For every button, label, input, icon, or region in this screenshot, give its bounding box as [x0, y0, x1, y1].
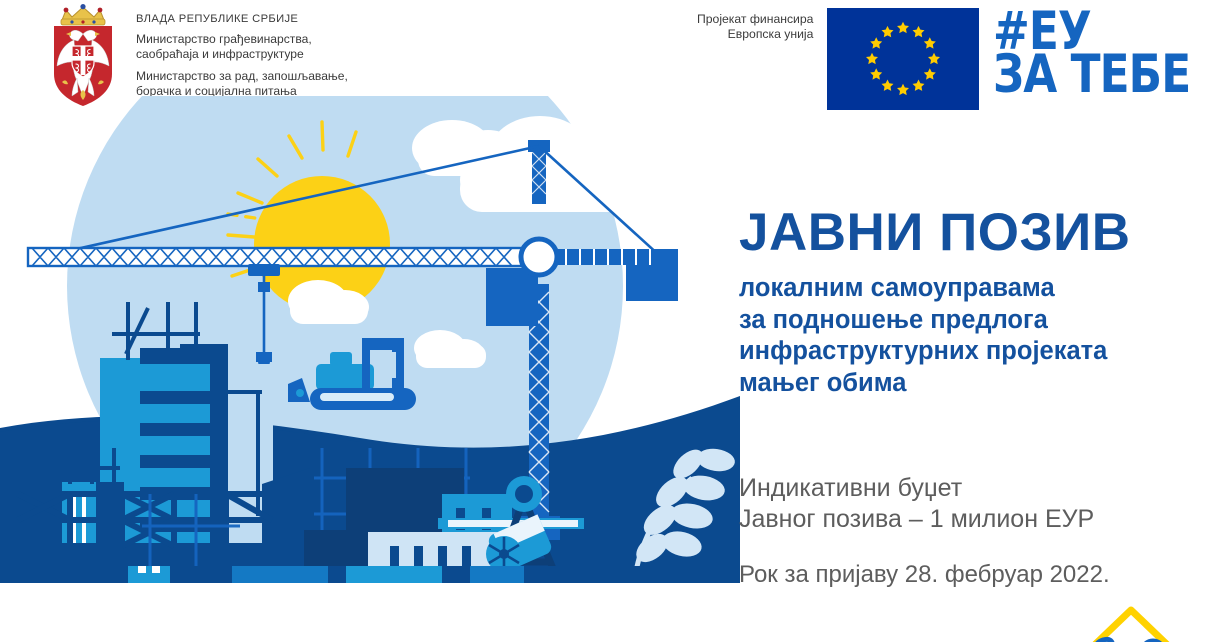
ministry-construction: Министарство грађевинарства, саобраћаја … — [136, 32, 348, 62]
government-title: ВЛАДА РЕПУБЛИКЕ СРБИЈЕ — [136, 13, 348, 25]
government-identity-block: ВЛАДА РЕПУБЛИКЕ СРБИЈЕ Министарство грађ… — [44, 4, 348, 108]
subtitle-line-4: мањег обима — [739, 368, 1199, 400]
eu-identity-block: Пројекат финансира Европска унија — [697, 8, 1208, 110]
page-subtitle: локалним самоуправама за подношење предл… — [739, 273, 1199, 399]
call-details: Индикативни буџет Јавног позива – 1 мили… — [739, 473, 1209, 589]
ministry-construction-line2: саобраћаја и инфраструктуре — [136, 47, 348, 62]
budget-info: Индикативни буџет Јавног позива – 1 мили… — [739, 473, 1209, 535]
ministry-labour-line1: Министарство за рад, запошљавање, — [136, 69, 348, 84]
poster-root: ВЛАДА РЕПУБЛИКЕ СРБИЈЕ Министарство грађ… — [0, 0, 1210, 642]
partner-badge — [1075, 600, 1195, 642]
illustration-svg — [0, 96, 740, 586]
ministry-construction-line1: Министарство грађевинарства, — [136, 32, 348, 47]
partner-house-logo-icon — [1075, 600, 1195, 642]
budget-line-1: Индикативни буџет — [739, 473, 1209, 504]
deadline-info: Рок за пријаву 28. фебруар 2022. — [739, 561, 1209, 589]
eu-slogan: #ЕУ ЗА ТЕБЕ — [993, 8, 1207, 97]
european-union-flag-icon — [827, 8, 979, 110]
main-copy: ЈАВНИ ПОЗИВ локалним самоуправама за под… — [739, 206, 1199, 399]
subtitle-line-3: инфраструктурних пројеката — [739, 336, 1199, 368]
ground-strip — [88, 566, 648, 583]
subtitle-line-1: локалним самоуправама — [739, 273, 1199, 305]
serbia-coat-of-arms-icon — [44, 4, 122, 108]
budget-line-2: Јавног позива – 1 милион ЕУР — [739, 504, 1209, 535]
eu-funded-text: Пројекат финансира Европска унија — [697, 8, 813, 42]
page-title: ЈАВНИ ПОЗИВ — [739, 206, 1199, 259]
eu-funded-line1: Пројекат финансира — [697, 12, 813, 27]
subtitle-line-2: за подношење предлога — [739, 305, 1199, 337]
government-text: ВЛАДА РЕПУБЛИКЕ СРБИЈЕ Министарство грађ… — [136, 4, 348, 106]
ministry-labour: Министарство за рад, запошљавање, борачк… — [136, 69, 348, 99]
eu-slogan-line2: ЗА ТЕБЕ — [993, 53, 1190, 96]
eu-funded-line2: Европска унија — [697, 27, 813, 42]
construction-illustration — [0, 96, 740, 586]
